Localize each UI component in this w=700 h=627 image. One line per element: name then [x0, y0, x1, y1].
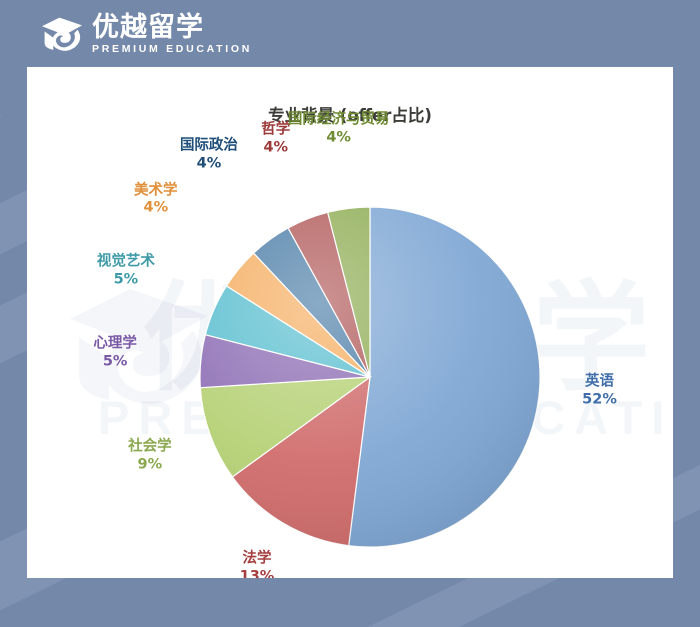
brand-logo: 优越留学 PREMIUM EDUCATION [40, 12, 252, 58]
background-stripe [0, 80, 1, 274]
brand-wordmark: 优越留学 PREMIUM EDUCATION [92, 14, 252, 56]
pie-slice-label-name: 美术学 [134, 182, 178, 198]
pie-slice-label-name: 国际政治 [180, 138, 238, 154]
brand-name-cn: 优越留学 [92, 14, 252, 42]
pie-chart: 英语52%法学13%社会学9%心理学5%视觉艺术5%美术学4%国际政治4%哲学4… [27, 67, 673, 578]
pie-slice[interactable] [349, 207, 540, 547]
pie-slice-label-value: 13% [240, 568, 275, 578]
pie-slice-label-name: 心理学 [93, 335, 137, 351]
chart-card: 优越留学 PREMIUM EDUCATION 专业背景 (offer占比) 英语… [27, 67, 673, 578]
pie-slice-label: 美术学4% [134, 182, 178, 217]
pie-slice-label-value: 4% [134, 200, 178, 218]
pie-slice-label: 视觉艺术5% [97, 254, 155, 289]
pie-slice-label-value: 52% [582, 391, 617, 409]
pie-slice-label: 英语52% [582, 374, 617, 409]
pie-slice-label-value: 5% [97, 271, 155, 289]
pie-slice-label-value: 5% [93, 353, 137, 371]
pie-slice-label-value: 9% [128, 456, 172, 474]
pie-chart-svg [170, 177, 570, 577]
pie-slice-label: 心理学5% [93, 335, 137, 370]
pie-slice-label-name: 法学 [242, 550, 271, 566]
pie-slice-group [200, 207, 540, 547]
pie-slice-label-name: 英语 [585, 374, 614, 390]
pie-slice-label-value: 4% [180, 155, 238, 173]
pie-slice-label: 国际政治4% [180, 138, 238, 173]
pie-slice-label: 法学13% [240, 550, 275, 578]
pie-slice-label-name: 哲学 [261, 121, 290, 137]
pie-slice-label: 哲学4% [261, 121, 290, 156]
pie-slice-label-name: 国际经济与贸易 [288, 111, 390, 127]
pie-slice-label-value: 4% [288, 129, 390, 147]
pie-slice-label-name: 社会学 [128, 439, 172, 455]
graduation-cap-icon [40, 15, 84, 55]
brand-name-en: PREMIUM EDUCATION [92, 43, 252, 56]
pie-slice-label-value: 4% [261, 139, 290, 157]
pie-slice-label: 国际经济与贸易4% [288, 111, 390, 146]
pie-slice-label: 社会学9% [128, 439, 172, 474]
pie-slice-label-name: 视觉艺术 [97, 254, 155, 270]
